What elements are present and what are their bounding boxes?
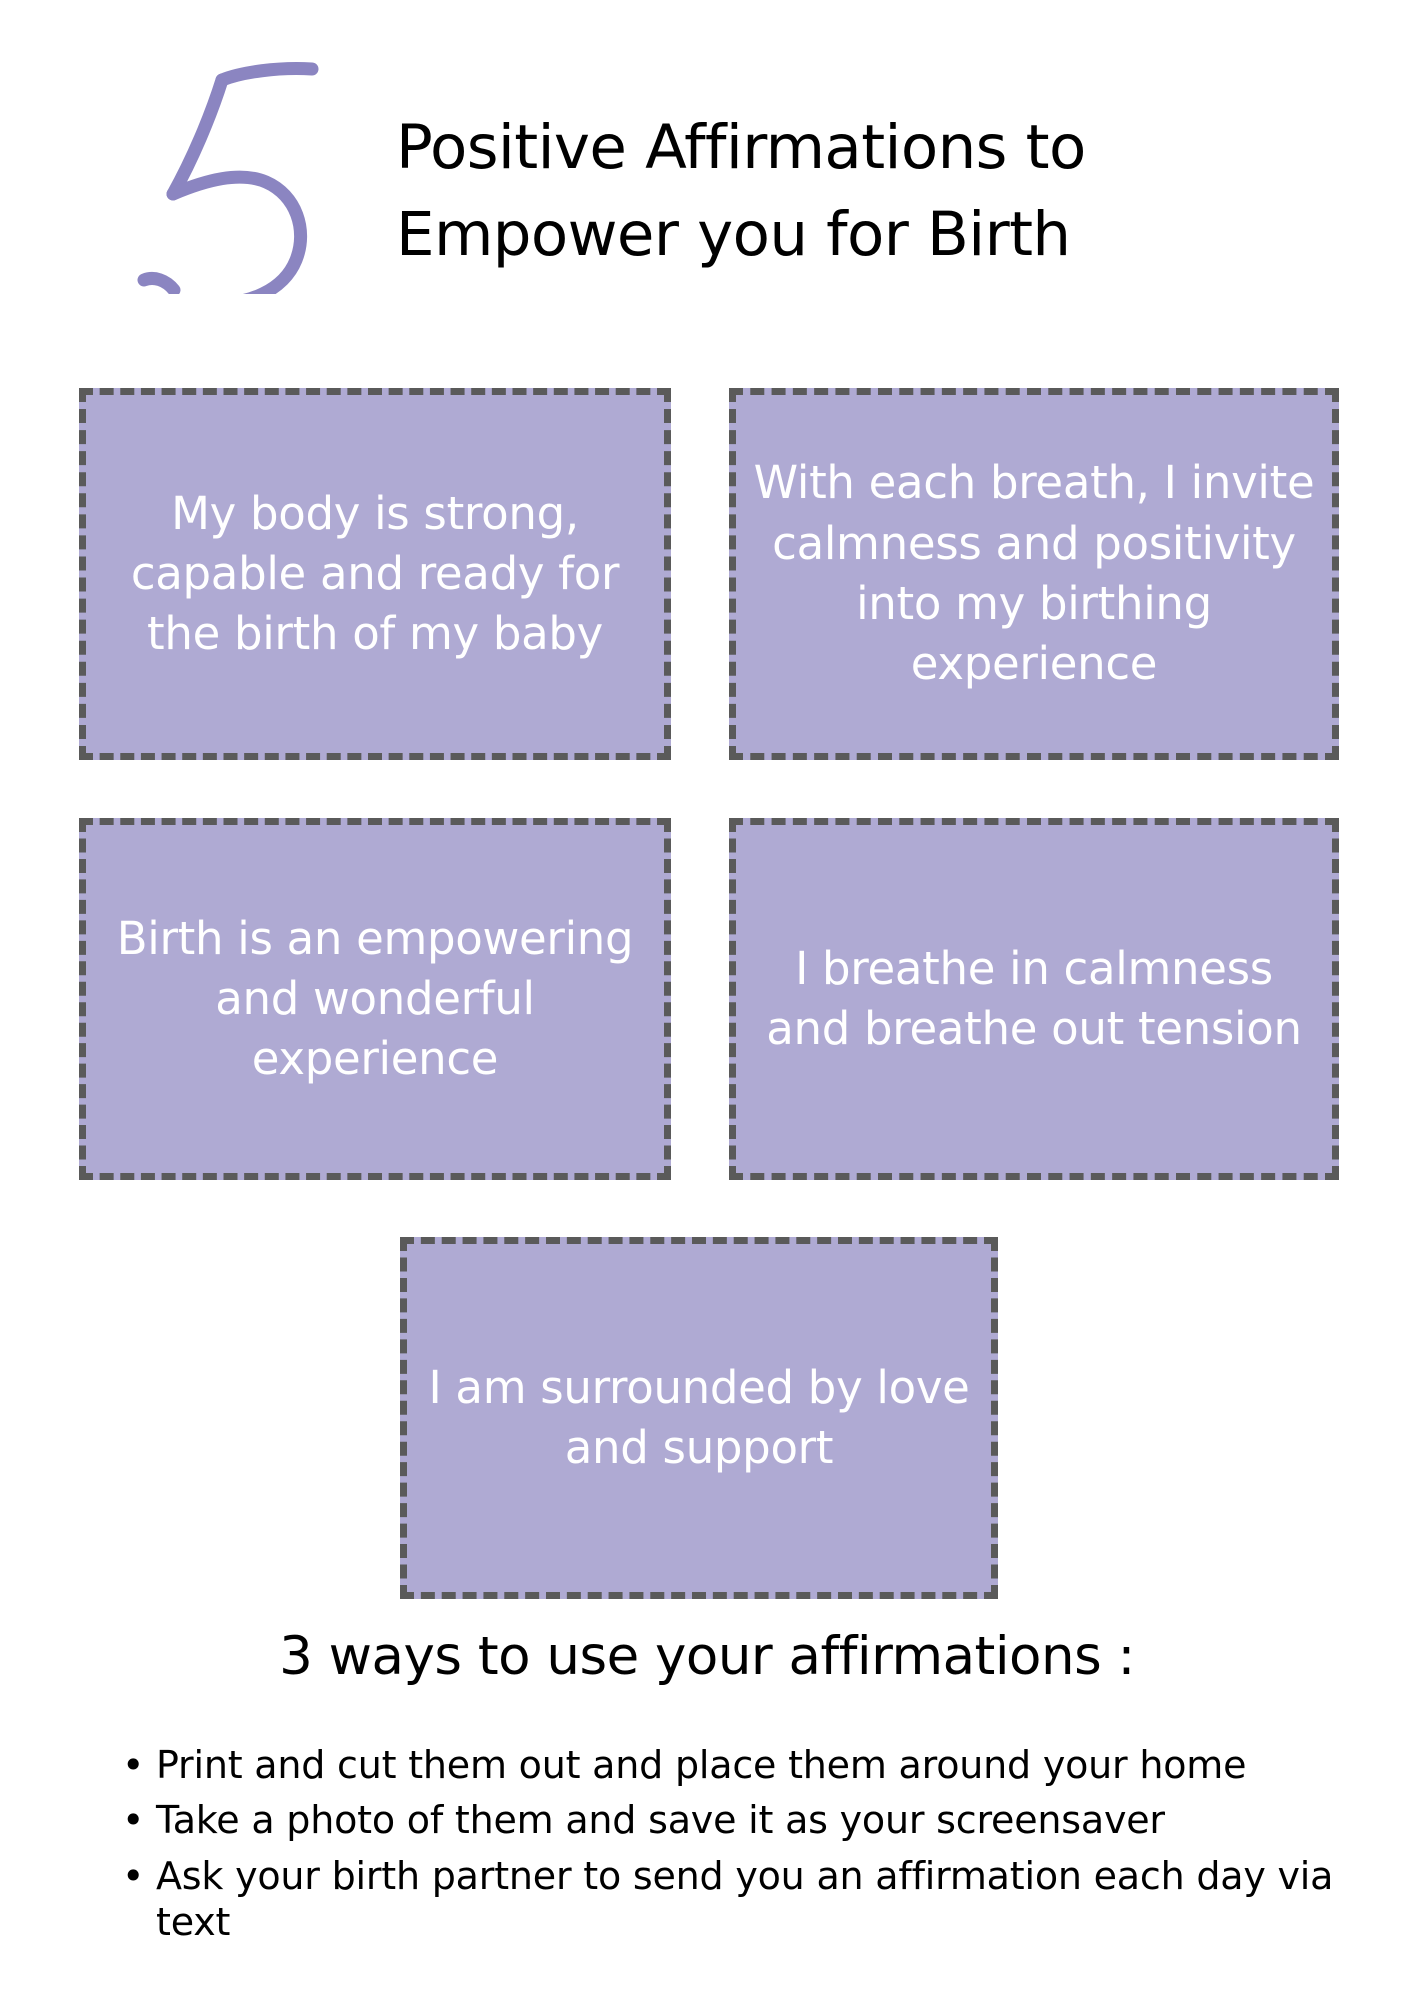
- title-line-1: Positive Affirmations to: [396, 105, 1296, 192]
- bullet-icon: •: [122, 1742, 144, 1788]
- affirmation-card-4-text: I breathe in calmness and breathe out te…: [750, 939, 1318, 1060]
- list-item: • Ask your birth partner to send you an …: [106, 1853, 1366, 1946]
- affirmation-card-5-text: I am surrounded by love and support: [421, 1358, 977, 1479]
- page-title: Positive Affirmations to Empower you for…: [396, 105, 1296, 278]
- affirmation-card-1-text: My body is strong, capable and ready for…: [100, 484, 650, 665]
- affirmation-card-4: I breathe in calmness and breathe out te…: [729, 818, 1339, 1180]
- list-item-label: Ask your birth partner to send you an af…: [156, 1854, 1333, 1944]
- affirmation-card-2-text: With each breath, I invite calmness and …: [750, 453, 1318, 694]
- affirmation-card-3-text: Birth is an empowering and wonderful exp…: [100, 909, 650, 1090]
- number-five-decorative: [100, 34, 330, 294]
- list-item: • Print and cut them out and place them …: [106, 1742, 1366, 1788]
- poster-page: Positive Affirmations to Empower you for…: [0, 0, 1414, 2000]
- poster-header: Positive Affirmations to Empower you for…: [0, 0, 1414, 300]
- list-item-label: Print and cut them out and place them ar…: [156, 1743, 1246, 1787]
- affirmation-card-5: I am surrounded by love and support: [400, 1237, 998, 1599]
- title-line-2: Empower you for Birth: [396, 192, 1296, 279]
- affirmation-card-1: My body is strong, capable and ready for…: [79, 388, 671, 760]
- ways-to-use-heading: 3 ways to use your affirmations :: [0, 1625, 1414, 1689]
- affirmation-card-3: Birth is an empowering and wonderful exp…: [79, 818, 671, 1180]
- bullet-icon: •: [122, 1797, 144, 1843]
- affirmation-card-2: With each breath, I invite calmness and …: [729, 388, 1339, 760]
- list-item-label: Take a photo of them and save it as your…: [156, 1798, 1165, 1842]
- list-item: • Take a photo of them and save it as yo…: [106, 1797, 1366, 1843]
- bullet-icon: •: [122, 1853, 144, 1899]
- ways-to-use-list: • Print and cut them out and place them …: [106, 1742, 1366, 1954]
